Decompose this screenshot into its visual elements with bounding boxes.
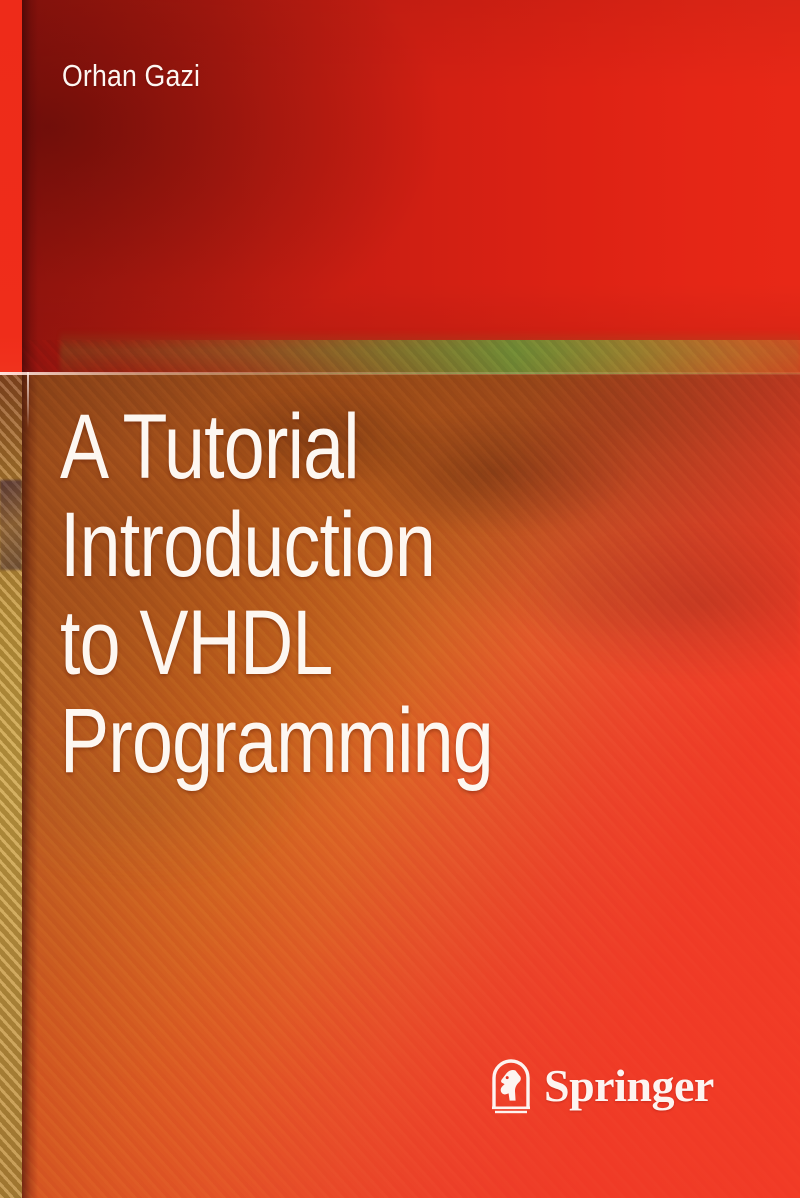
- book-title: A Tutorial Introduction to VHDL Programm…: [60, 398, 604, 790]
- horizontal-divider-rule: [0, 372, 800, 375]
- title-line-3: to VHDL: [60, 594, 604, 692]
- springer-knight-icon: [488, 1058, 534, 1114]
- author-name: Orhan Gazi: [62, 58, 200, 94]
- spine-gutter-shadow: [22, 0, 38, 1198]
- title-line-1: A Tutorial: [60, 398, 604, 496]
- publisher-name: Springer: [544, 1063, 714, 1109]
- cover-top-shading: [0, 0, 800, 373]
- title-line-2: Introduction: [60, 496, 604, 594]
- vertical-divider-rule: [27, 372, 29, 428]
- spine-strip: [0, 0, 22, 1198]
- spine-dark-accent: [0, 480, 22, 570]
- publisher-logo: Springer: [488, 1058, 714, 1114]
- book-cover: Orhan Gazi A Tutorial Introduction to VH…: [0, 0, 800, 1198]
- title-line-4: Programming: [60, 692, 604, 790]
